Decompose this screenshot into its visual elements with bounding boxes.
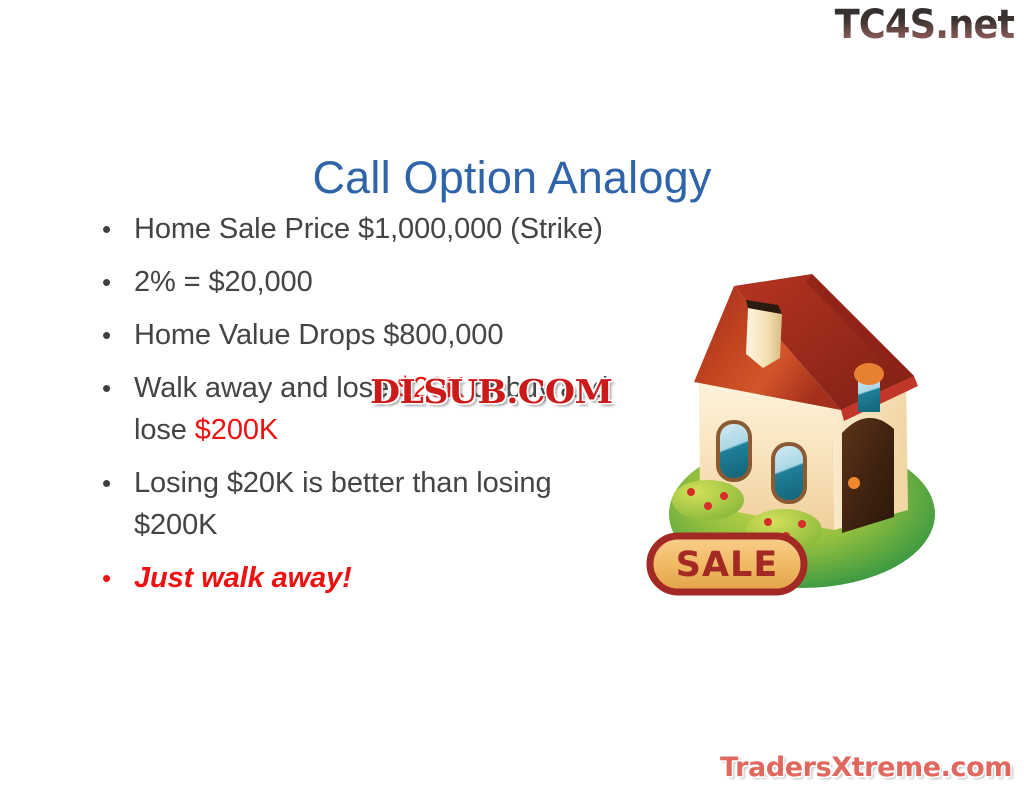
bullet-item: •Home Value Drops $800,000 — [96, 314, 641, 356]
bullet-marker-icon: • — [96, 261, 134, 303]
door-knob — [848, 477, 860, 489]
bush-left — [672, 480, 744, 520]
dlsub-watermark: DLSUB.COM — [370, 372, 612, 411]
bullet-item: •2% = $20,000 — [96, 261, 641, 303]
bullet-text-run: 2% = $20,000 — [134, 266, 313, 298]
bullet-text-run: Walk away and lose — [134, 372, 397, 404]
front-door — [842, 418, 894, 533]
bullet-marker-icon: • — [96, 208, 134, 250]
bullet-marker-icon: • — [96, 557, 134, 599]
tradersxtreme-brand-logo: TradersXtreme.com — [720, 752, 1012, 783]
bullet-text: Losing $20K is better than losing $200K — [134, 462, 641, 546]
window-left — [716, 420, 752, 482]
bullet-text: Home Sale Price $1,000,000 (Strike) — [134, 208, 641, 250]
house-for-sale-illustration: SALE — [636, 258, 966, 598]
bullet-text: Home Value Drops $800,000 — [134, 314, 641, 356]
bullet-item: •Home Sale Price $1,000,000 (Strike) — [96, 208, 641, 250]
bullet-marker-icon: • — [96, 367, 134, 409]
bullet-text-run: Home Sale Price $1,000,000 (Strike) — [134, 213, 603, 245]
highlighted-amount: $200K — [195, 414, 278, 446]
bullet-text: 2% = $20,000 — [134, 261, 641, 303]
bullet-marker-icon: • — [96, 314, 134, 356]
bullet-text-run: Losing $20K is better than losing $200K — [134, 467, 551, 541]
tc4s-brand-logo: TC4S.net — [834, 2, 1014, 48]
bullet-text-run: Home Value Drops $800,000 — [134, 319, 503, 351]
window-right — [771, 442, 807, 504]
sale-sign: SALE — [650, 536, 804, 592]
bullet-item: •Just walk away! — [96, 557, 641, 599]
bullet-item: •Losing $20K is better than losing $200K — [96, 462, 641, 546]
bullet-text-run: Just walk away! — [134, 562, 352, 594]
bullet-text: Just walk away! — [134, 557, 641, 599]
bullet-marker-icon: • — [96, 462, 134, 504]
svg-text:SALE: SALE — [676, 545, 779, 585]
page-title: Call Option Analogy — [0, 152, 1024, 204]
attic-window — [854, 363, 884, 412]
